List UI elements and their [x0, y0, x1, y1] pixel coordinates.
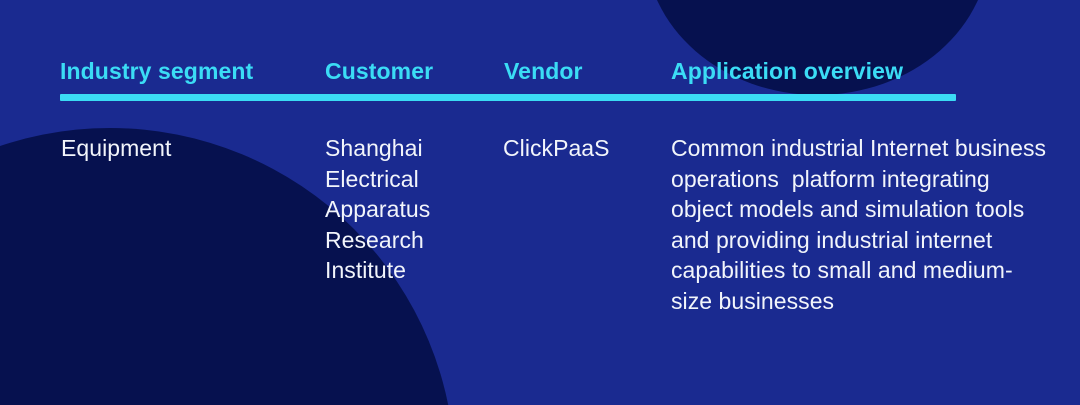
slide-canvas: Industry segment Customer Vendor Applica…: [0, 0, 1080, 405]
table-header-row: Industry segment Customer Vendor Applica…: [0, 56, 1080, 90]
column-header-application-overview: Application overview: [671, 56, 1066, 86]
cell-vendor: ClickPaaS: [503, 133, 663, 164]
header-divider-rule: [60, 94, 956, 101]
column-header-industry-segment: Industry segment: [60, 56, 322, 86]
cell-customer: Shanghai Electrical Apparatus Research I…: [325, 133, 497, 286]
comparison-table: Industry segment Customer Vendor Applica…: [0, 0, 1080, 405]
cell-industry-segment: Equipment: [61, 133, 316, 164]
cell-application-overview: Common industrial Internet business oper…: [671, 133, 1051, 316]
column-header-vendor: Vendor: [504, 56, 668, 86]
column-header-customer: Customer: [325, 56, 501, 86]
